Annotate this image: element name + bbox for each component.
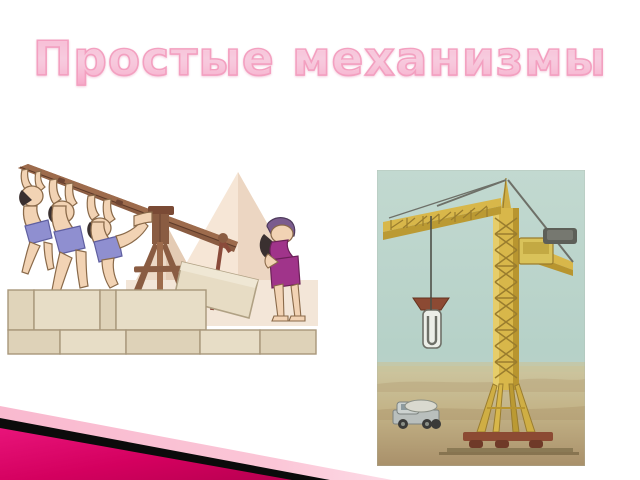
banner-black-stripe: [0, 418, 330, 480]
egyptian-lever-illustration: [6, 162, 318, 356]
banner-pink-stripe: [0, 406, 392, 480]
banner-magenta-wedge: [0, 428, 292, 480]
tower-crane-photo: [377, 170, 585, 466]
page-title: Простые механизмы: [0, 24, 640, 94]
title-text: Простые механизмы: [33, 32, 607, 87]
slide-canvas: Простые механизмы: [0, 0, 640, 480]
